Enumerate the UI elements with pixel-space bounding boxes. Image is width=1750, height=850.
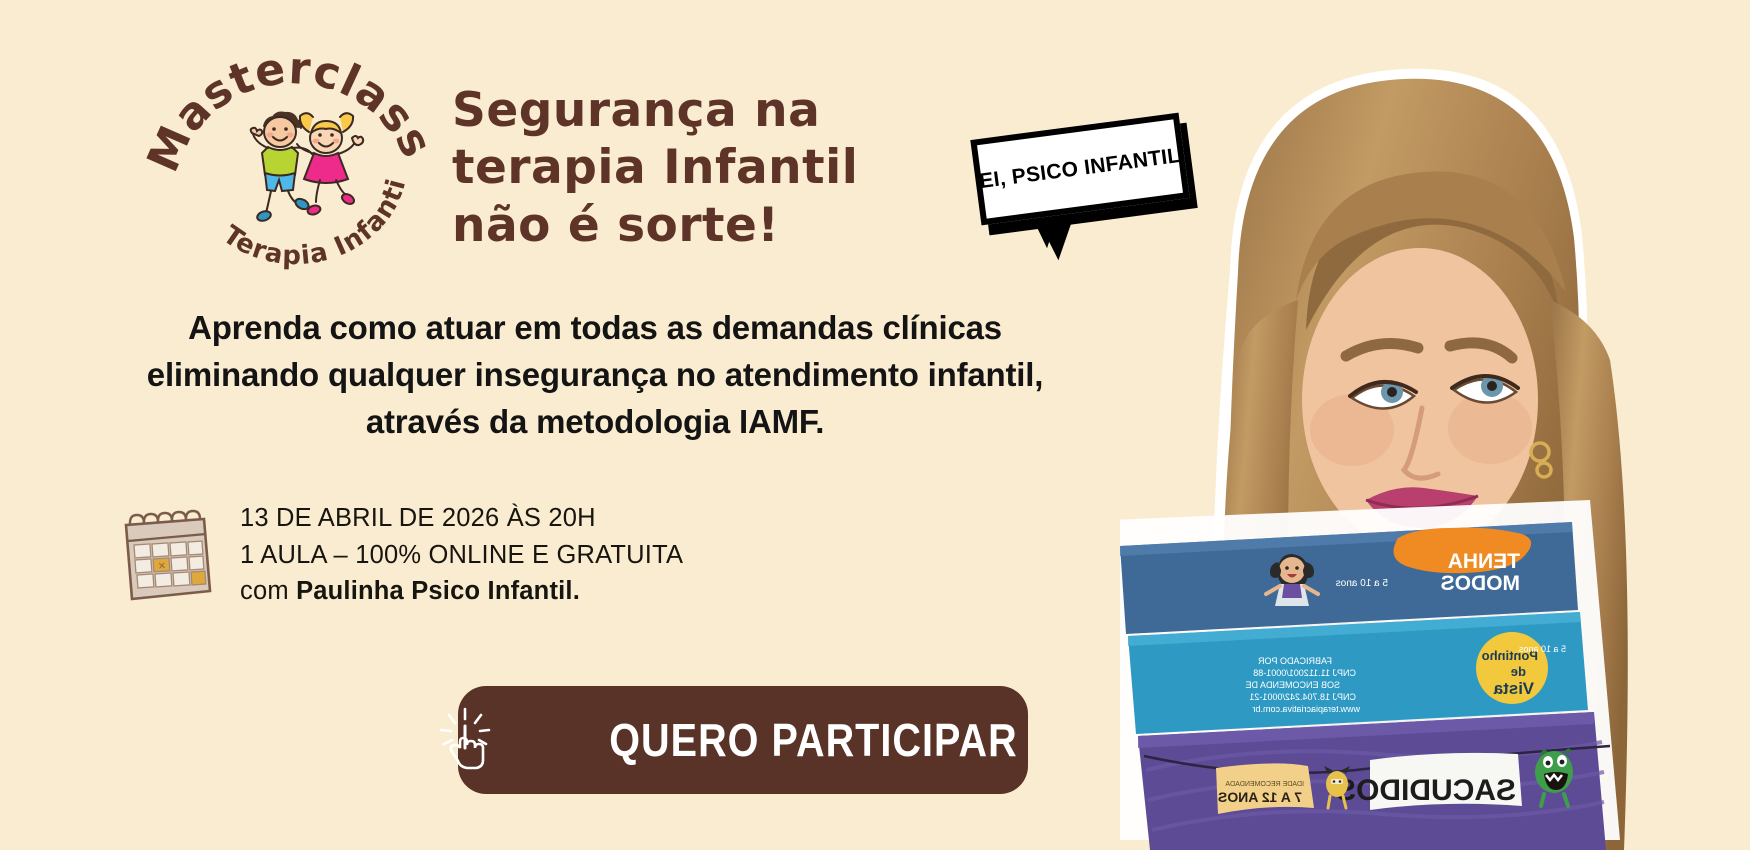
- headline-line-1: Segurança na: [452, 82, 882, 139]
- masterclass-logo: Masterclass Terapia Infantil: [168, 38, 418, 270]
- event-host-prefix: com: [240, 577, 296, 605]
- box3-tag-label: IDADE RECOMENDADA: [1225, 781, 1304, 788]
- box3-age-tag: IDADE RECOMENDADA 7 A 12 ANOS: [1216, 763, 1314, 814]
- event-info-block: × 13 DE ABRIL DE 2026 ÀS 20H 1 AULA – 10…: [118, 500, 683, 610]
- promo-banner: Masterclass Terapia Infantil: [0, 0, 1750, 850]
- click-hand-icon: [436, 706, 498, 774]
- box3-age: 7 A 12 ANOS: [1218, 789, 1302, 805]
- box1-age: 5 a 10 anos: [1336, 578, 1388, 589]
- two-children-icon: [224, 100, 374, 225]
- event-info-text: 13 DE ABRIL DE 2026 ÀS 20H 1 AULA – 100%…: [240, 500, 683, 610]
- event-host: com Paulinha Psico Infantil.: [240, 573, 683, 610]
- svg-text:CNPJ 18.704.242/0001-21: CNPJ 18.704.242/0001-21: [1249, 692, 1356, 702]
- svg-text:×: ×: [157, 561, 166, 573]
- svg-text:www.terapiacriativa.com.br: www.terapiacriativa.com.br: [1252, 704, 1361, 714]
- headline-line-2: terapia Infantil: [452, 139, 882, 196]
- box1-title-line1: TENHA: [1448, 550, 1520, 573]
- subheadline: Aprenda como atuar em todas as demandas …: [60, 305, 1130, 446]
- calendar-icon: ×: [118, 507, 218, 603]
- headline: Segurança na terapia Infantil não é sort…: [452, 82, 882, 254]
- box3-title: SACUDIDOS: [1336, 774, 1516, 807]
- box1-title-line2: MODOS: [1441, 572, 1520, 595]
- cta-label: QUERO PARTICIPAR: [609, 713, 1017, 767]
- box2-age: 5 a 10 anos: [1518, 644, 1566, 654]
- subheadline-line-1: Aprenda como atuar em todas as demandas …: [60, 305, 1130, 352]
- presenter-photo: TENHA MODOS 5 a 10 anos: [1120, 0, 1750, 850]
- event-host-name: Paulinha Psico Infantil.: [296, 577, 580, 605]
- box2-title-line2: de: [1511, 664, 1526, 679]
- headline-line-3: não é sorte!: [452, 197, 882, 254]
- subheadline-line-3: através da metodologia IAMF.: [60, 399, 1130, 446]
- event-format: 1 AULA – 100% ONLINE E GRATUITA: [240, 537, 683, 574]
- game-box-stack: TENHA MODOS 5 a 10 anos: [1120, 500, 1620, 850]
- svg-text:CNPJ 11.112001/0001-88: CNPJ 11.112001/0001-88: [1253, 668, 1356, 678]
- box2-title-line3: Vista: [1493, 679, 1534, 698]
- svg-text:FABRICADO POR: FABRICADO POR: [1257, 656, 1332, 666]
- svg-text:SOB ENCOMENDA DE: SOB ENCOMENDA DE: [1245, 680, 1340, 690]
- quero-participar-button[interactable]: QUERO PARTICIPAR: [458, 686, 1028, 794]
- game-box-sacudidos: SACUDIDOS IDADE RECOMENDADA 7 A 12 ANOS: [1138, 712, 1610, 850]
- event-date: 13 DE ABRIL DE 2026 ÀS 20H: [240, 500, 683, 537]
- subheadline-line-2: eliminando qualquer insegurança no atend…: [60, 352, 1130, 399]
